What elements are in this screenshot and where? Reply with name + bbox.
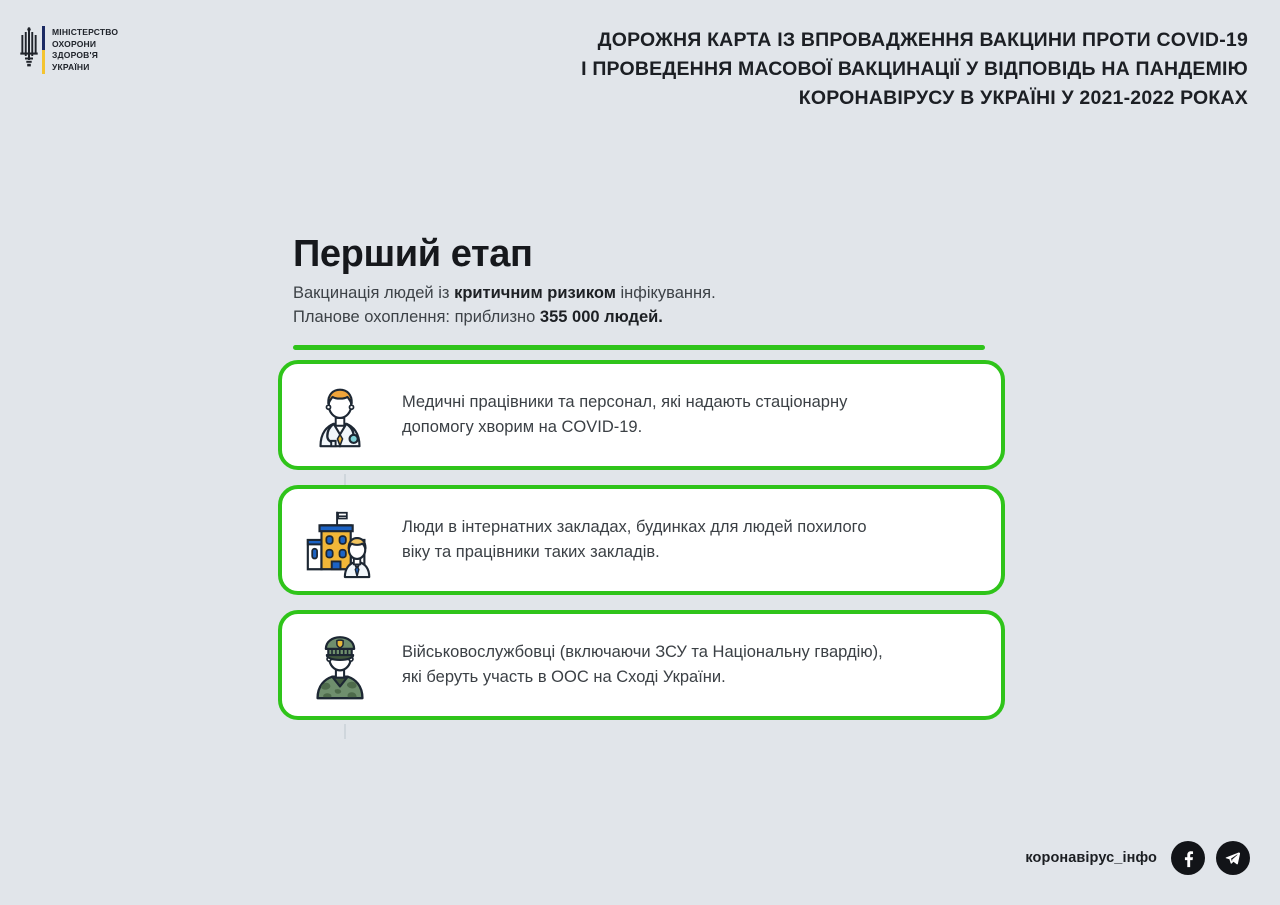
stage-card-1[interactable]: Медичні працівники та персонал, які нада… (278, 360, 1005, 470)
stage-subtitle-line-1-suffix: інфікування. (616, 284, 716, 302)
footer: коронавірус_інфо (1025, 841, 1250, 875)
logo-flag-bar (42, 26, 45, 74)
stage-section: Перший етап Вакцинація людей із критични… (293, 232, 1005, 350)
stage-subtitle-line-2: Планове охоплення: приблизно 355 000 люд… (293, 306, 1005, 330)
stage-subtitle-line-1-bold: критичним ризиком (454, 284, 616, 302)
stage-subtitle: Вакцинація людей із критичним ризиком ін… (293, 282, 1005, 329)
logo-text: МІНІСТЕРСТВО ОХОРОНИ ЗДОРОВ'Я УКРАЇНИ (52, 26, 118, 73)
stage-card-3[interactable]: Військовослужбовці (включаючи ЗСУ та Нац… (278, 610, 1005, 720)
stage-title: Перший етап (293, 232, 1005, 276)
stage-subtitle-line-1-prefix: Вакцинація людей із (293, 284, 454, 302)
page-header: МІНІСТЕРСТВО ОХОРОНИ ЗДОРОВ'Я УКРАЇНИ ДО… (0, 0, 1280, 130)
page-title-line-3: КОРОНАВІРУСУ В УКРАЇНІ У 2021-2022 РОКАХ (408, 84, 1248, 113)
page-title-line-2: І ПРОВЕДЕННЯ МАСОВОЇ ВАКЦИНАЦІЇ У ВІДПОВ… (408, 55, 1248, 84)
soldier-icon (298, 623, 382, 707)
facebook-link[interactable] (1171, 841, 1205, 875)
stage-subtitle-line-2-prefix: Планове охоплення: приблизно (293, 308, 540, 326)
logo-line-1: МІНІСТЕРСТВО (52, 27, 118, 39)
stage-divider (293, 345, 985, 350)
stage-subtitle-line-2-bold: 355 000 людей. (540, 308, 663, 326)
ukraine-trident-icon (18, 26, 40, 72)
doctor-icon (298, 373, 382, 457)
stage-card-list: Медичні працівники та персонал, які нада… (278, 360, 1005, 720)
page-title-line-1: ДОРОЖНЯ КАРТА ІЗ ВПРОВАДЖЕННЯ ВАКЦИНИ ПР… (408, 26, 1248, 55)
facebook-icon (1178, 848, 1198, 868)
ministry-logo: МІНІСТЕРСТВО ОХОРОНИ ЗДОРОВ'Я УКРАЇНИ (18, 26, 118, 74)
logo-line-3: ЗДОРОВ'Я (52, 50, 118, 62)
logo-line-4: УКРАЇНИ (52, 62, 118, 74)
stage-card-1-text: Медичні працівники та персонал, які нада… (382, 390, 871, 440)
stage-card-2-text: Люди в інтернатних закладах, будинках дл… (382, 515, 891, 565)
logo-line-2: ОХОРОНИ (52, 39, 118, 51)
stage-card-3-text: Військовослужбовці (включаючи ЗСУ та Нац… (382, 640, 907, 690)
stage-card-2[interactable]: Люди в інтернатних закладах, будинках дл… (278, 485, 1005, 595)
care-institution-building-icon (298, 498, 382, 582)
footer-label: коронавірус_інфо (1025, 850, 1157, 866)
telegram-link[interactable] (1216, 841, 1250, 875)
page-title: ДОРОЖНЯ КАРТА ІЗ ВПРОВАДЖЕННЯ ВАКЦИНИ ПР… (408, 26, 1248, 113)
telegram-icon (1223, 848, 1243, 868)
stage-subtitle-line-1: Вакцинація людей із критичним ризиком ін… (293, 282, 1005, 306)
card-connector-2 (344, 724, 346, 739)
